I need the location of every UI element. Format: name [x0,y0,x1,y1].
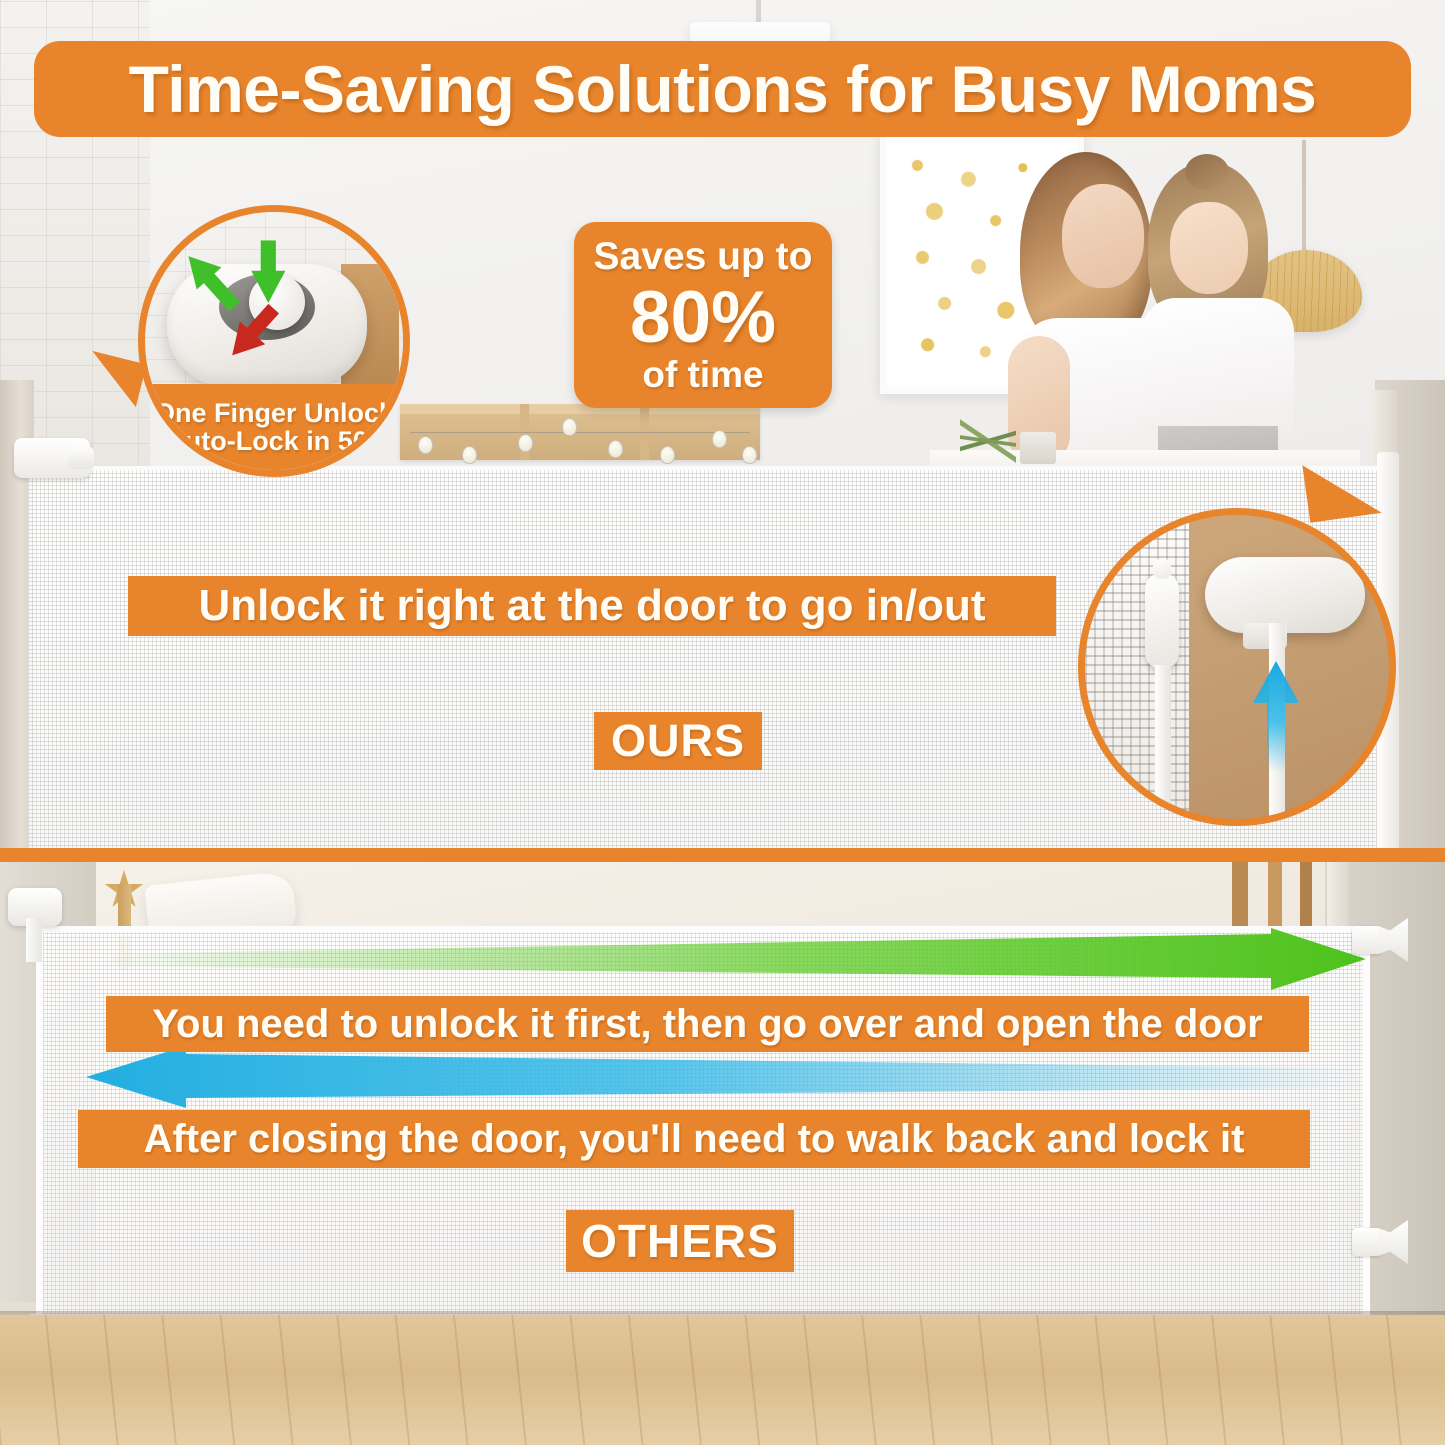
others-banner-1-text: You need to unlock it first, then go ove… [152,1002,1262,1047]
blue-left-arrow-icon [86,1046,1364,1108]
string-light-bulb [518,434,533,452]
time-saving-badge: Saves up to 80% of time [574,222,832,408]
callout-circle-right [1078,508,1396,826]
latch-mechanism-callout [1078,508,1396,826]
string-light-bulb [742,446,757,464]
others-label: OTHERS [566,1210,794,1272]
string-light-bulb [562,418,577,436]
gate-post-rod [1155,665,1171,813]
one-finger-unlock-callout: One Finger Unlock Auto-Lock in 50s [138,205,410,477]
others-banner-1: You need to unlock it first, then go ove… [106,996,1309,1052]
gate-wall-mount-bracket [14,438,90,478]
ours-label: OURS [594,712,762,770]
badge-line1: Saves up to [594,235,813,279]
gate-post-cap-icon [1145,573,1179,669]
latch-mechanism-icon [1205,557,1365,633]
page-title: Time-Saving Solutions for Busy Moms [34,41,1411,137]
latch-bracket-bottom [1352,1220,1408,1264]
child-hair-bun [1185,154,1229,190]
bracket-bow [1378,1220,1408,1264]
bracket-bar [1352,1228,1382,1256]
others-banner-2: After closing the door, you'll need to w… [78,1110,1310,1168]
callout-label-line1: One Finger Unlock [154,399,394,427]
mother-and-child-photo [990,140,1310,470]
badge-percentage: 80% [630,281,776,354]
mesh-panel-icon [1085,515,1189,819]
others-banner-2-text: After closing the door, you'll need to w… [144,1117,1245,1162]
infographic-canvas: Time-Saving Solutions for Busy Moms [0,0,1445,1445]
callout-circle: One Finger Unlock Auto-Lock in 50s [138,205,410,477]
green-down-arrow-icon [251,240,285,303]
ours-feature-banner-text: Unlock it right at the door to go in/out [198,581,985,631]
ours-feature-banner: Unlock it right at the door to go in/out [128,576,1056,636]
gate-wall-mount-bracket-bottom [8,888,62,926]
string-light-bulb [712,430,727,448]
child-face [1170,202,1248,294]
mother-face [1062,184,1144,288]
ours-label-text: OURS [611,715,745,767]
child-shirt [1142,298,1294,438]
green-up-arrow-icon [176,245,246,318]
green-right-arrow-icon [96,928,1366,990]
callout-pointer-tail-right [1302,455,1381,522]
page-title-text: Time-Saving Solutions for Busy Moms [129,51,1317,127]
string-light-bulb [660,446,675,464]
string-light-bulb [418,436,433,454]
callout-label-line2: Auto-Lock in 50s [165,427,383,455]
section-divider [0,848,1445,862]
string-light-bulb [608,440,623,458]
badge-line3: of time [642,354,763,396]
blue-up-arrow-icon [1253,661,1299,773]
callout-label: One Finger Unlock Auto-Lock in 50s [145,384,403,470]
string-light-bulb [462,446,477,464]
others-label-text: OTHERS [581,1214,779,1268]
plant-pot [1020,432,1056,464]
bracket-bow [1378,918,1408,962]
string-light-wire [410,432,750,433]
potted-plant-icon [960,418,1016,464]
wood-floor [0,1315,1445,1445]
